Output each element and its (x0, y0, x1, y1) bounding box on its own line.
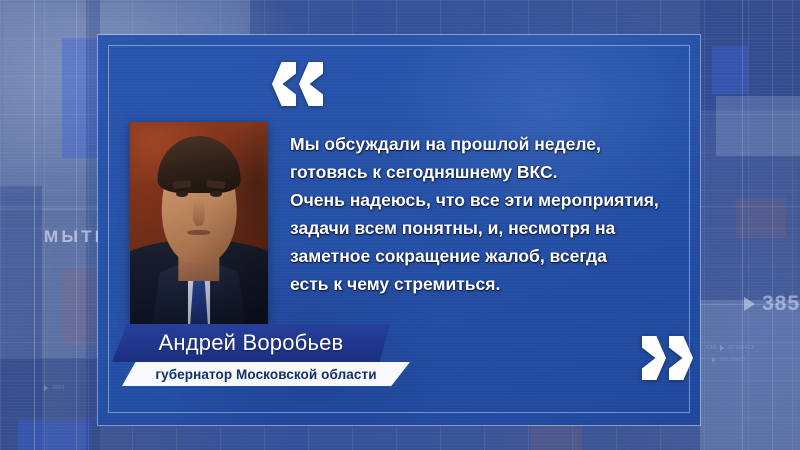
speaker-name: Андрей Воробьев (112, 324, 390, 362)
quote-close-chevrons-icon (642, 336, 693, 380)
background-microtext: 3850 (44, 385, 65, 391)
chevron-right-icon (669, 336, 693, 380)
chevron-left-icon (272, 62, 296, 106)
chevron-right-icon (642, 336, 666, 380)
background-ticker-value: 3850 (762, 292, 800, 316)
background-microtext: 00128423 (712, 357, 745, 363)
speaker-role: губернатор Московской области (122, 362, 410, 386)
play-triangle-icon (712, 357, 716, 363)
background-rule (742, 0, 743, 450)
play-triangle-icon (744, 297, 755, 311)
chevron-left-icon (299, 62, 323, 106)
broadcast-graphic: МЫТИ 3850 C16 00128423 00128423 3850 (0, 0, 800, 450)
play-triangle-icon (44, 385, 48, 391)
background-rule (76, 0, 77, 450)
background-rule (34, 0, 35, 450)
quote-text: Мы обсуждали на прошлой неделе, готовясь… (290, 130, 690, 298)
quote-open-chevrons-icon (272, 62, 323, 106)
portrait-nose (193, 200, 205, 227)
speaker-portrait (130, 122, 268, 326)
background-microtext: C16 00128423 (706, 345, 754, 351)
play-triangle-icon (720, 345, 724, 351)
background-ticker: 3850 (744, 292, 800, 316)
background-rule (772, 0, 773, 450)
